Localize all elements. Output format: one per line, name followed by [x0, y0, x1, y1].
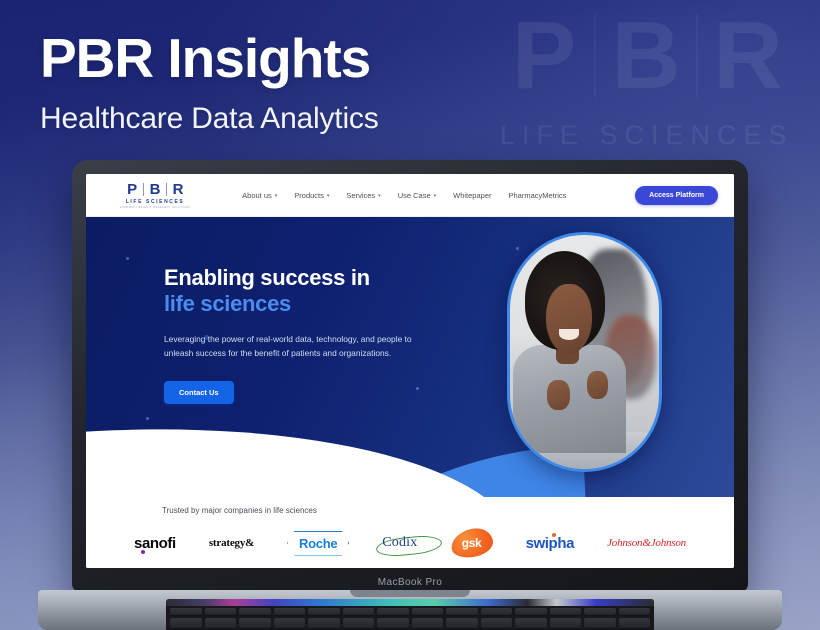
- key[interactable]: [377, 608, 409, 616]
- brand-logo-johnson-and-johnson: Johnson&Johnson: [607, 537, 686, 549]
- key[interactable]: [343, 608, 375, 616]
- brand-logo-gsk: gsk: [451, 529, 493, 557]
- decor-dot: [126, 257, 129, 260]
- brand-logo-row: sanofi strategy& Roche: [108, 529, 712, 557]
- nav-item-about-us-label: About us: [242, 191, 272, 200]
- nav-item-services[interactable]: Services ▾: [346, 191, 380, 200]
- key[interactable]: [343, 618, 375, 629]
- brand-logo-roche: Roche: [287, 531, 349, 556]
- nav-item-use-case[interactable]: Use Case ▾: [398, 191, 436, 200]
- site-logo-subtitle: LIFE SCIENCES: [126, 199, 185, 205]
- swipha-dot-icon: [552, 533, 556, 537]
- key[interactable]: [481, 618, 513, 629]
- watermark-divider-2: [696, 14, 698, 98]
- laptop-mockup: P B R LIFE SCIENCES PHARMACY BENEFIT RES…: [72, 160, 748, 630]
- keyboard-row[interactable]: [166, 606, 654, 616]
- brand-logo-strategy-and: strategy&: [209, 537, 254, 549]
- key[interactable]: [170, 608, 202, 616]
- site-logo-divider-2: [166, 183, 167, 196]
- nav-item-use-case-label: Use Case: [398, 191, 431, 200]
- nav-item-products[interactable]: Products ▾: [294, 191, 329, 200]
- hero-photo: [507, 232, 662, 472]
- key[interactable]: [515, 618, 547, 629]
- key[interactable]: [446, 608, 478, 616]
- watermark-letter-b: B: [602, 8, 690, 104]
- key[interactable]: [239, 608, 271, 616]
- hero-heading: Enabling success in life sciences: [164, 265, 439, 317]
- watermark-divider-1: [594, 14, 596, 98]
- brand-logo-sanofi: sanofi: [134, 535, 176, 552]
- key[interactable]: [550, 618, 582, 629]
- brand-logo-swipha: swipha: [526, 535, 574, 552]
- key[interactable]: [619, 608, 651, 616]
- nav-item-whitepaper[interactable]: Whitepaper: [453, 191, 491, 200]
- laptop-base: [38, 590, 782, 630]
- touch-bar[interactable]: [166, 599, 654, 606]
- key[interactable]: [515, 608, 547, 616]
- access-platform-button[interactable]: Access Platform: [635, 186, 718, 205]
- roche-wordmark: Roche: [287, 531, 349, 556]
- key[interactable]: [412, 608, 444, 616]
- hero-section: Enabling success in life sciences Levera…: [86, 217, 734, 497]
- decor-dot: [146, 417, 149, 420]
- key[interactable]: [274, 618, 306, 629]
- key[interactable]: [377, 618, 409, 629]
- key[interactable]: [170, 618, 202, 629]
- codix-wordmark: Codix: [382, 535, 417, 551]
- swipha-wordmark: swipha: [526, 535, 574, 552]
- chevron-down-icon: ▾: [327, 193, 330, 199]
- hero-wave-white: [86, 402, 521, 497]
- poster-canvas: P B R LIFE SCIENCES PBR Insights Healthc…: [0, 0, 820, 630]
- nav-item-services-label: Services: [346, 191, 375, 200]
- site-logo-letters: P B R: [124, 182, 186, 197]
- hero-text-block: Enabling success in life sciences Levera…: [164, 265, 439, 404]
- site-logo-letter-b: B: [147, 182, 163, 197]
- page-subtitle: Healthcare Data Analytics: [40, 102, 379, 136]
- nav-item-about-us[interactable]: About us ▾: [242, 191, 277, 200]
- contact-us-button[interactable]: Contact Us: [164, 381, 234, 404]
- site-logo-tagline: PHARMACY BENEFIT RESEARCH SOLUTIONS: [120, 206, 190, 209]
- brand-logo-codix: Codix: [382, 535, 417, 551]
- keyboard-row[interactable]: [166, 616, 654, 629]
- key[interactable]: [308, 618, 340, 629]
- key[interactable]: [584, 618, 616, 629]
- key[interactable]: [584, 608, 616, 616]
- website-viewport: P B R LIFE SCIENCES PHARMACY BENEFIT RES…: [86, 174, 734, 568]
- laptop-keyboard[interactable]: [166, 599, 654, 630]
- key[interactable]: [550, 608, 582, 616]
- watermark-letter-p: P: [500, 8, 588, 104]
- johnson-and-johnson-wordmark: Johnson&Johnson: [607, 537, 686, 549]
- sanofi-wordmark: sanofi: [134, 535, 176, 552]
- watermark-logo: P B R LIFE SCIENCES: [500, 8, 820, 153]
- key[interactable]: [481, 608, 513, 616]
- site-logo-letter-r: R: [170, 182, 186, 197]
- photo-fist-right: [587, 371, 608, 399]
- trusted-by-section: Trusted by major companies in life scien…: [86, 497, 734, 568]
- hero-photo-image: [510, 235, 659, 469]
- key[interactable]: [446, 618, 478, 629]
- photo-fist-left: [547, 380, 569, 410]
- site-logo-divider-1: [143, 183, 144, 196]
- nav-item-pharmacymetrics-label: PharmacyMetrics: [509, 191, 567, 200]
- site-nav-links: About us ▾ Products ▾ Services ▾: [242, 191, 566, 200]
- nav-item-products-label: Products: [294, 191, 324, 200]
- laptop-notch: [350, 590, 470, 597]
- nav-item-pharmacymetrics[interactable]: PharmacyMetrics: [509, 191, 567, 200]
- photo-face: [546, 284, 592, 354]
- hero-paragraph: Leveraging the power of real-world data,…: [164, 333, 419, 361]
- macbook-pro-label: MacBook Pro: [72, 577, 748, 588]
- key[interactable]: [205, 618, 237, 629]
- hero-heading-line2: life sciences: [164, 291, 439, 317]
- gsk-wordmark: gsk: [451, 529, 493, 557]
- key[interactable]: [274, 608, 306, 616]
- laptop-screen: P B R LIFE SCIENCES PHARMACY BENEFIT RES…: [86, 174, 734, 568]
- chevron-down-icon: ▾: [434, 193, 437, 199]
- watermark-letters: P B R: [500, 8, 820, 104]
- site-logo[interactable]: P B R LIFE SCIENCES PHARMACY BENEFIT RES…: [120, 182, 190, 209]
- watermark-letter-r: R: [704, 8, 792, 104]
- site-logo-letter-p: P: [124, 182, 140, 197]
- key[interactable]: [239, 618, 271, 629]
- nav-item-whitepaper-label: Whitepaper: [453, 191, 491, 200]
- chevron-down-icon: ▾: [275, 193, 278, 199]
- watermark-subtitle: LIFE SCIENCES: [500, 120, 820, 151]
- key[interactable]: [619, 618, 651, 629]
- strategy-and-wordmark: strategy&: [209, 537, 254, 549]
- hero-heading-line1: Enabling success in: [164, 265, 370, 290]
- key[interactable]: [412, 618, 444, 629]
- trusted-by-label: Trusted by major companies in life scien…: [162, 506, 712, 515]
- poster-headline-block: PBR Insights Healthcare Data Analytics: [40, 30, 379, 136]
- site-navbar: P B R LIFE SCIENCES PHARMACY BENEFIT RES…: [86, 174, 734, 217]
- page-title: PBR Insights: [40, 30, 379, 88]
- laptop-lid: P B R LIFE SCIENCES PHARMACY BENEFIT RES…: [72, 160, 748, 592]
- key[interactable]: [308, 608, 340, 616]
- chevron-down-icon: ▾: [378, 193, 381, 199]
- key[interactable]: [205, 608, 237, 616]
